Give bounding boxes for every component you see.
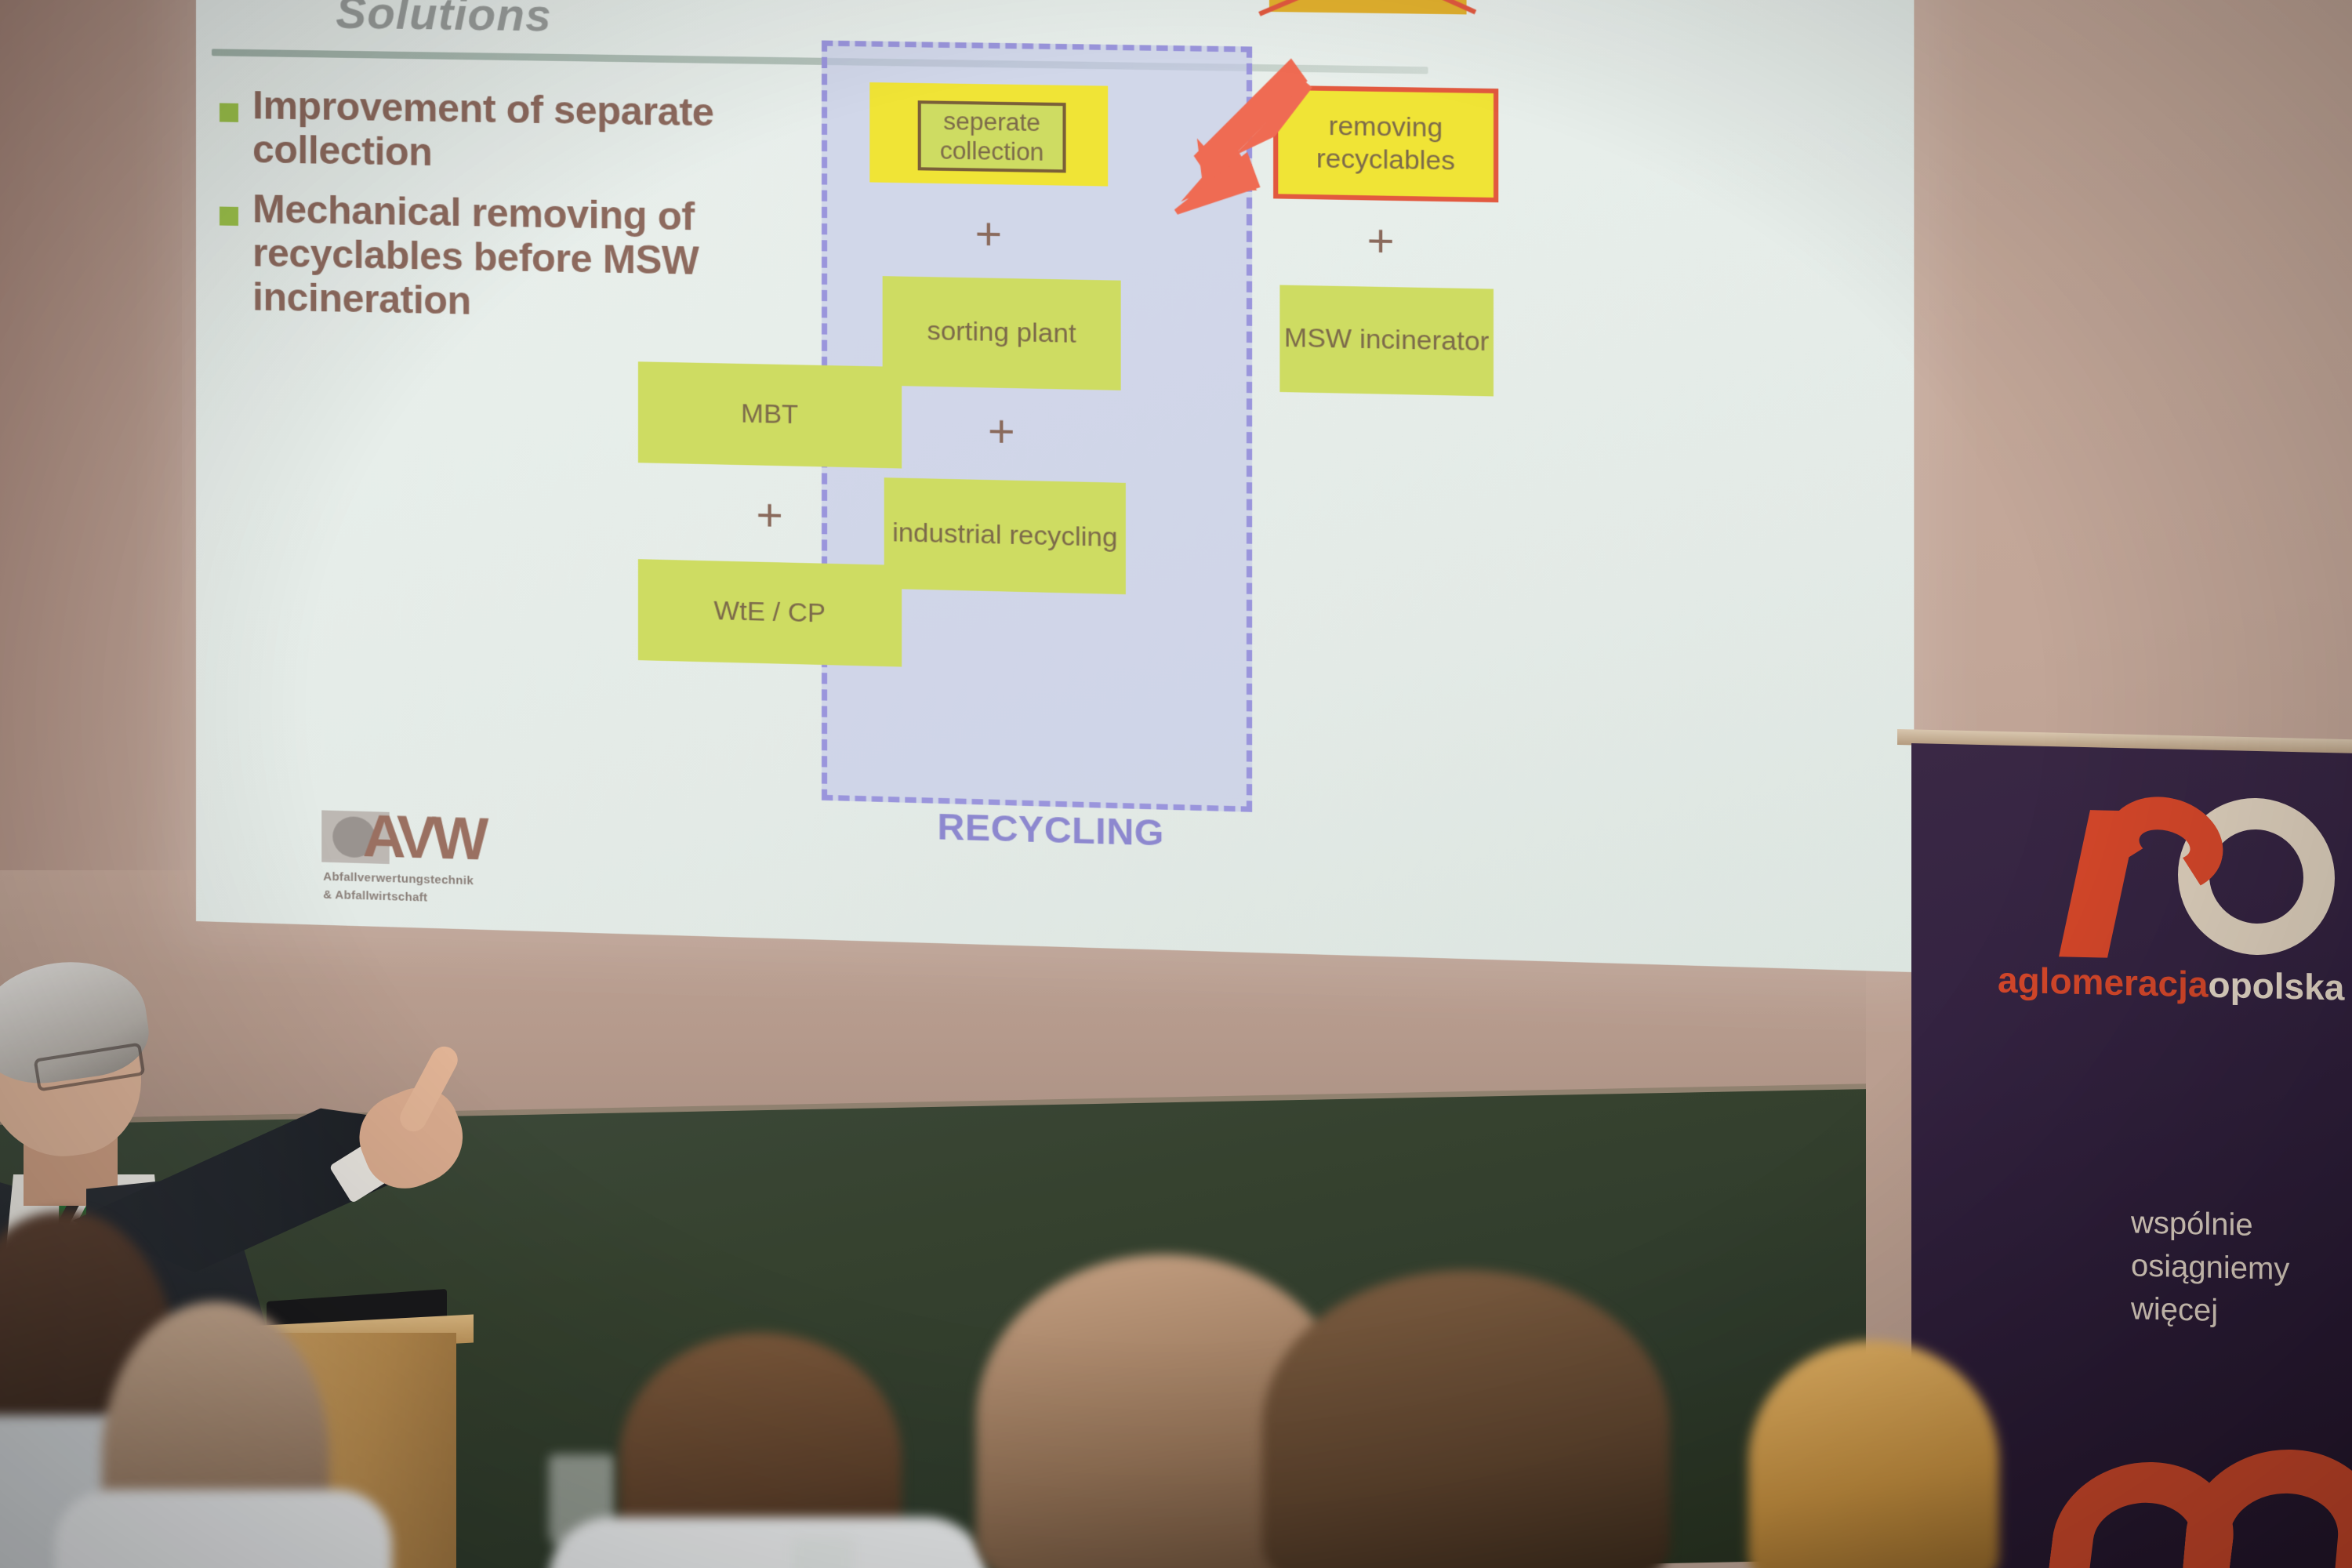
audience-head	[1262, 1270, 1670, 1568]
projected-slide: Solutions Improvement of separate collec…	[196, 0, 1914, 972]
box-label: MBT	[741, 398, 798, 432]
landfilling-cross-line-1	[1258, 0, 1476, 16]
presentation-room-photo: Solutions Improvement of separate collec…	[0, 0, 2352, 1568]
banner-bottom-graphic-icon	[2053, 1436, 2352, 1568]
diagram-box-sorting-plant: sorting plant	[883, 276, 1121, 390]
diagram-box-industrial-recycling: industrial recycling	[884, 477, 1126, 594]
audience-head	[1748, 1341, 1999, 1568]
recycling-label: RECYCLING	[878, 803, 1225, 856]
banner-wordmark: aglomeracjaopolska	[1998, 958, 2344, 1008]
flow-arrow-icon	[990, 59, 1330, 271]
banner-wordmark-opolska: opolska	[2208, 964, 2344, 1008]
avw-logo: AVW Abfallverwertungstechnik & Abfallwir…	[321, 807, 495, 913]
audience-shoulders	[55, 1490, 392, 1568]
box-label: industrial recycling	[892, 517, 1117, 555]
drinking-glass	[792, 1537, 853, 1568]
banner-watermark-pattern: popopopopopo	[1911, 844, 2045, 1287]
banner-tagline-line3: więcej	[2131, 1288, 2289, 1335]
diagram-box-mbt: MBT	[638, 361, 902, 468]
plus-connector-middle-2: +	[883, 406, 1121, 457]
avw-subtitle: Abfallverwertungstechnik & Abfallwirtsch…	[323, 869, 474, 909]
po-logo-icon	[2060, 786, 2343, 972]
banner-tagline-line2: osiągniemy	[2131, 1245, 2289, 1292]
box-label: sorting plant	[927, 315, 1076, 351]
banner-wordmark-aglomeracja: aglomeracja	[1998, 959, 2208, 1004]
box-label: WtE / CP	[714, 595, 826, 630]
diagram-box-landfilling: Landfilling	[1269, 0, 1467, 14]
audience-shoulders	[549, 1517, 988, 1568]
banner-tagline-line1: wspólnie	[2131, 1201, 2289, 1248]
box-label: MSW incinerator	[1284, 322, 1489, 359]
plus-connector-left: +	[638, 489, 902, 541]
diagram-box-msw-incinerator: MSW incinerator	[1279, 285, 1494, 396]
avw-wordmark: AVW	[362, 808, 484, 869]
diagram-box-wte-cp: WtE / CP	[638, 559, 902, 666]
banner-tagline: wspólnie osiągniemy więcej	[2131, 1201, 2289, 1334]
